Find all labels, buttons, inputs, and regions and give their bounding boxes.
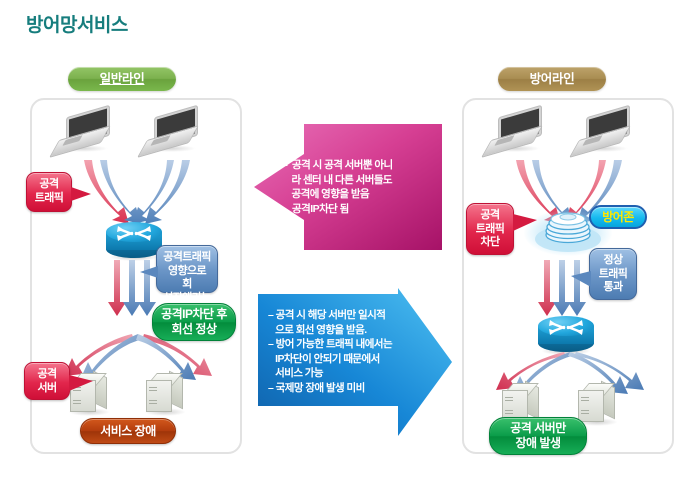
server-vent xyxy=(505,397,513,398)
callout-attack-traffic-blocked-label: 공격 트래픽 차단 xyxy=(476,209,505,248)
server-icon xyxy=(144,372,184,414)
server-vent xyxy=(505,400,513,401)
pill-ip-block-normal: 공격IP차단 후 회선 정상 xyxy=(152,303,236,341)
pill-defense-zone: 방어존 xyxy=(589,205,647,229)
server-vent xyxy=(149,400,157,401)
server-vent xyxy=(581,400,589,401)
header-pill-general-line: 일반라인 xyxy=(68,67,176,91)
pill-service-fault: 서비스 장애 xyxy=(80,418,176,444)
callout-tail xyxy=(571,271,591,287)
header-pill-general-line-label: 일반라인 xyxy=(100,72,145,86)
callout-attack-traffic-label: 공격 트래픽 xyxy=(35,178,64,204)
banner-blue-text: – 공격 시 해당 서버만 일시적 으로 회선 영향을 받음. – 방어 가능한… xyxy=(268,308,392,395)
diagram-canvas: 방어망서비스 일반라인 방어라인 xyxy=(0,0,680,490)
server-vent xyxy=(73,400,81,401)
pill-ip-block-normal-label: 공격IP차단 후 회선 정상 xyxy=(161,307,227,337)
callout-attack-traffic: 공격 트래픽 xyxy=(26,172,72,212)
server-vent xyxy=(581,397,589,398)
callout-attack-server: 공격 서버 xyxy=(24,362,70,400)
laptop-icon xyxy=(54,112,108,152)
callout-attack-traffic-blocked: 공격 트래픽 차단 xyxy=(466,203,514,255)
server-icon xyxy=(576,382,616,424)
callout-line-fault-possible: 공격트래픽 영향으로 회 선장애가능 xyxy=(156,245,218,293)
page-title: 방어망서비스 xyxy=(26,10,128,37)
callout-tail xyxy=(513,214,537,231)
callout-normal-traffic-pass-label: 정상 트래픽 통과 xyxy=(599,254,628,293)
banner-magenta-text: – 공격 시 공격 서버뿐 아니 라 센터 내 다른 서버들도 공격에 영향을 … xyxy=(282,158,393,216)
router-icon xyxy=(538,316,594,354)
header-pill-defense-line-label: 방어라인 xyxy=(530,72,575,86)
router-icon xyxy=(106,222,162,260)
server-vent xyxy=(505,410,513,411)
pill-defense-zone-label: 방어존 xyxy=(602,210,634,225)
general-line-result-banner: – 공격 시 공격 서버뿐 아니 라 센터 내 다른 서버들도 공격에 영향을 … xyxy=(252,124,442,255)
callout-normal-traffic-pass: 정상 트래픽 통과 xyxy=(589,248,637,300)
server-front xyxy=(578,390,604,422)
callout-tail xyxy=(140,266,158,278)
header-pill-defense-line: 방어라인 xyxy=(498,67,606,91)
server-vent xyxy=(505,413,513,414)
server-vent xyxy=(581,413,589,414)
server-vent xyxy=(149,390,157,391)
pill-attack-server-only-fault-label: 공격 서버만 장애 발생 xyxy=(510,421,566,451)
callout-tail xyxy=(71,187,91,201)
router-arrows-icon xyxy=(538,316,594,338)
server-vent xyxy=(73,403,81,404)
callout-tail xyxy=(69,375,93,391)
laptop-icon xyxy=(142,112,196,152)
pill-attack-server-only-fault: 공격 서버만 장애 발생 xyxy=(489,417,587,455)
callout-attack-server-label: 공격 서버 xyxy=(37,368,56,394)
defense-line-result-banner: – 공격 시 해당 서버만 일시적 으로 회선 영향을 받음. – 방어 가능한… xyxy=(258,288,454,441)
callout-line-fault-label: 공격트래픽 영향으로 회 선장애가능 xyxy=(163,251,211,304)
laptop-icon xyxy=(486,112,540,152)
server-vent xyxy=(149,387,157,388)
server-front xyxy=(146,380,172,412)
pill-service-fault-label: 서비스 장애 xyxy=(100,424,156,439)
server-vent xyxy=(581,410,589,411)
laptop-icon xyxy=(574,112,628,152)
server-vent xyxy=(149,403,157,404)
router-arrows-icon xyxy=(106,222,162,244)
